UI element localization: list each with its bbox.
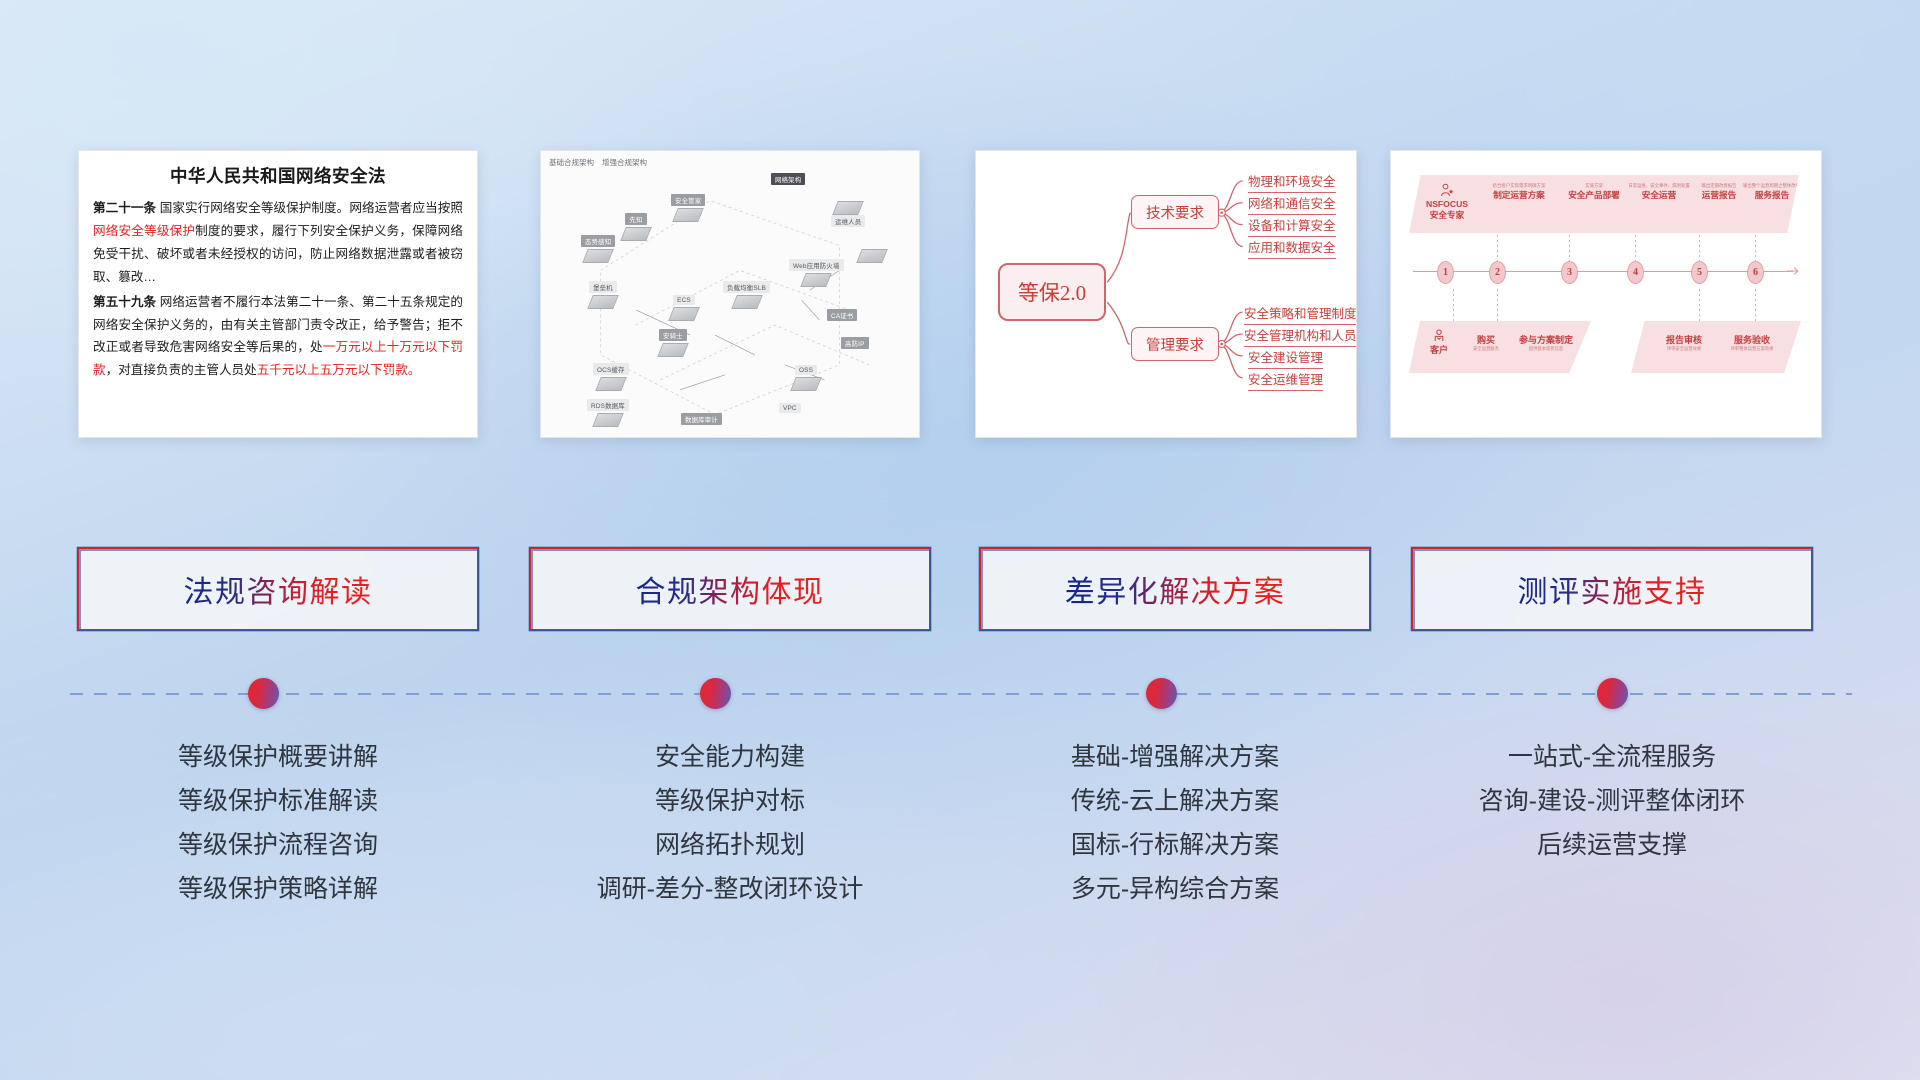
feature-list-1: 等级保护概要讲解 等级保护标准解读 等级保护流程咨询 等级保护策略详解 xyxy=(78,745,478,921)
list-item: 基础-增强解决方案 xyxy=(980,745,1370,770)
list-item: 安全能力构建 xyxy=(530,745,930,770)
list-item: 等级保护概要讲解 xyxy=(78,745,478,770)
list-item: 等级保护对标 xyxy=(530,789,930,814)
title-label-4: 测评实施支持 xyxy=(1518,567,1707,611)
title-label-1: 法规咨询解读 xyxy=(184,567,373,611)
timeline-dashed-line xyxy=(70,693,1852,695)
list-item: 网络拓扑规划 xyxy=(530,833,930,858)
list-item: 国标-行标解决方案 xyxy=(980,833,1370,858)
title-box-compliance-architecture[interactable]: 合规架构体现 xyxy=(530,548,930,630)
title-box-assessment-support[interactable]: 测评实施支持 xyxy=(1412,548,1812,630)
timeline-node-4[interactable] xyxy=(1597,678,1628,709)
timeline-node-1[interactable] xyxy=(248,678,279,709)
list-item: 等级保护策略详解 xyxy=(78,877,478,902)
feature-list-4: 一站式-全流程服务 咨询-建设-测评整体闭环 后续运营支撑 xyxy=(1412,745,1812,877)
list-item: 一站式-全流程服务 xyxy=(1412,745,1812,770)
title-box-differentiated-solution[interactable]: 差异化解决方案 xyxy=(980,548,1370,630)
feature-list-2: 安全能力构建 等级保护对标 网络拓扑规划 调研-差分-整改闭环设计 xyxy=(530,745,930,921)
list-item: 咨询-建设-测评整体闭环 xyxy=(1412,789,1812,814)
timeline-node-3[interactable] xyxy=(1146,678,1177,709)
title-label-3: 差异化解决方案 xyxy=(1065,567,1286,611)
timeline-node-2[interactable] xyxy=(700,678,731,709)
list-item: 传统-云上解决方案 xyxy=(980,789,1370,814)
slide-canvas: 中华人民共和国网络安全法 第二十一条 国家实行网络安全等级保护制度。网络运营者应… xyxy=(0,0,1920,1080)
list-item: 等级保护流程咨询 xyxy=(78,833,478,858)
list-item: 等级保护标准解读 xyxy=(78,789,478,814)
list-item: 多元-异构综合方案 xyxy=(980,877,1370,902)
list-item: 调研-差分-整改闭环设计 xyxy=(530,877,930,902)
feature-list-3: 基础-增强解决方案 传统-云上解决方案 国标-行标解决方案 多元-异构综合方案 xyxy=(980,745,1370,921)
title-box-regulation-consulting[interactable]: 法规咨询解读 xyxy=(78,548,478,630)
title-label-2: 合规架构体现 xyxy=(636,567,825,611)
list-item: 后续运营支撑 xyxy=(1412,833,1812,858)
